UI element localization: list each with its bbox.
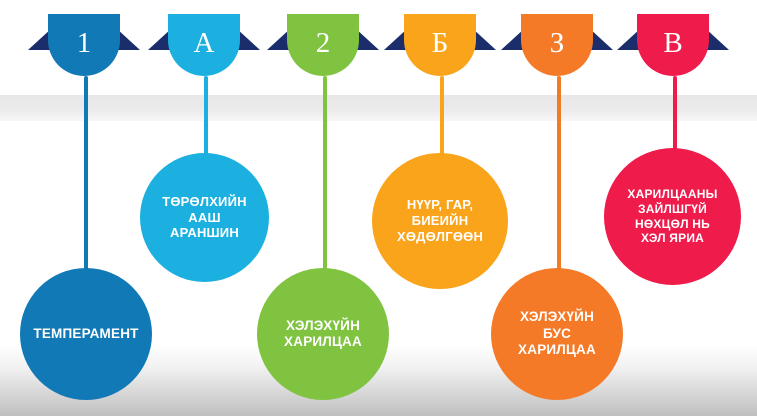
banner-body-3: З <box>521 14 593 76</box>
banner-tab-3[interactable]: З <box>521 14 593 76</box>
banner-tab-a[interactable]: А <box>168 14 240 76</box>
banner-label-b: Б <box>432 29 449 58</box>
bubble-label-temperament: ТЕМПЕРАМЕНТ <box>25 326 146 342</box>
banner-label-2: 2 <box>316 29 331 58</box>
banner-label-v: В <box>663 29 682 58</box>
infographic-canvas: 1 А 2 Б З В ТЕМП <box>0 0 757 416</box>
bubble-label-torolkhiin: ТӨРӨЛХИЙН ААШ АРАНШИН <box>154 194 255 242</box>
banner-body-v: В <box>637 14 709 76</box>
connector-line-b <box>440 76 444 161</box>
bubble-khelekhuin-kharilzaa[interactable]: ХЭЛЭХҮЙН ХАРИЛЦАА <box>257 268 389 400</box>
bubble-kharilzaany-zailshgui[interactable]: ХАРИЛЦААНЫ ЗАЙЛШГҮЙ НӨХЦӨЛ НЬ ХЭЛ ЯРИА <box>604 148 741 285</box>
bubble-label-khelekhuin-bus: ХЭЛЭХҮЙН БУС ХАРИЛЦАА <box>510 309 604 358</box>
connector-line-a <box>204 76 208 161</box>
banner-body-b: Б <box>404 14 476 76</box>
bubble-torolkhiin[interactable]: ТӨРӨЛХИЙН ААШ АРАНШИН <box>140 153 269 282</box>
banner-body-a: А <box>168 14 240 76</box>
bubble-khelekhuin-bus[interactable]: ХЭЛЭХҮЙН БУС ХАРИЛЦАА <box>491 268 623 400</box>
connector-line-3 <box>557 76 561 276</box>
banner-tab-1[interactable]: 1 <box>48 14 120 76</box>
banner-label-a: А <box>194 29 215 58</box>
connector-line-1 <box>84 76 88 276</box>
bubble-temperament[interactable]: ТЕМПЕРАМЕНТ <box>20 268 152 400</box>
banner-body-2: 2 <box>287 14 359 76</box>
bubble-label-kharilzaany-zailshgui: ХАРИЛЦААНЫ ЗАЙЛШГҮЙ НӨХЦӨЛ НЬ ХЭЛ ЯРИА <box>619 187 725 246</box>
banner-label-3: З <box>550 29 565 58</box>
banner-label-1: 1 <box>77 29 92 58</box>
connector-line-2 <box>323 76 327 276</box>
bubble-label-nuur-gar-biein: НҮҮР, ГАР, БИЕИЙН ХӨДӨЛГӨӨН <box>389 197 491 245</box>
banner-tab-b[interactable]: Б <box>404 14 476 76</box>
background-gray-band <box>0 95 757 121</box>
bubble-label-khelekhuin-kharilzaa: ХЭЛЭХҮЙН ХАРИЛЦАА <box>276 318 370 351</box>
bubble-nuur-gar-biein[interactable]: НҮҮР, ГАР, БИЕИЙН ХӨДӨЛГӨӨН <box>372 153 508 289</box>
banner-body-1: 1 <box>48 14 120 76</box>
banner-tab-2[interactable]: 2 <box>287 14 359 76</box>
banner-tab-v[interactable]: В <box>637 14 709 76</box>
